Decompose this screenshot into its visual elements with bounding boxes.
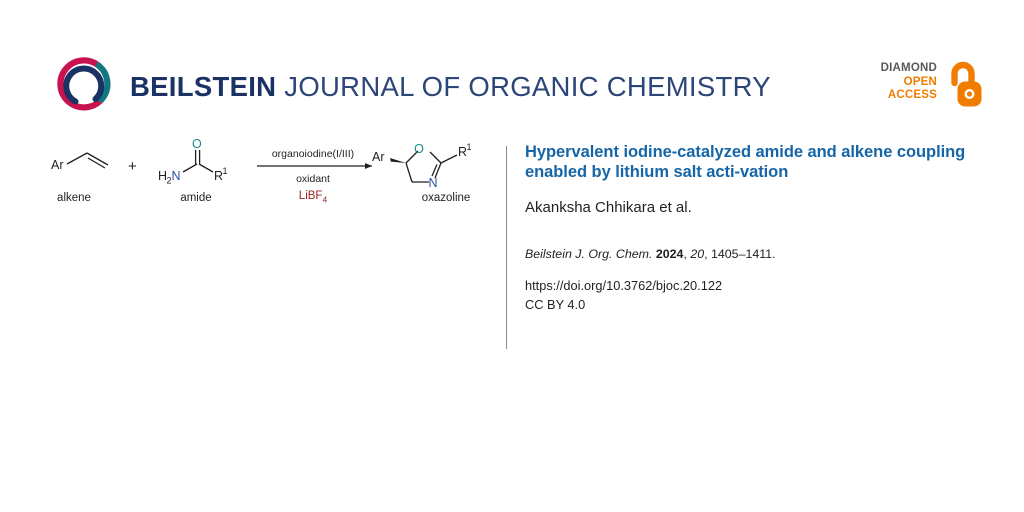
open-padlock-icon — [944, 60, 984, 110]
svg-text:N: N — [428, 176, 437, 190]
svg-text:Ar: Ar — [372, 150, 385, 164]
article-doi-link[interactable]: https://doi.org/10.3762/bjoc.20.122 — [525, 261, 977, 293]
citation-year: 2024 — [656, 247, 684, 261]
journal-title-rest: JOURNAL OF ORGANIC CHEMISTRY — [276, 71, 771, 102]
plus-sign: + — [128, 158, 137, 175]
condition-below-arrow-salt: LiBF4 — [253, 190, 373, 204]
article-license: CC BY 4.0 — [525, 293, 977, 312]
svg-text:1: 1 — [223, 166, 228, 176]
svg-text:O: O — [192, 137, 202, 151]
citation-pages: , 1405–1411. — [704, 247, 775, 261]
article-title-line-3: vation — [740, 163, 788, 181]
article-title[interactable]: Hypervalent iodine-catalyzed amide and a… — [525, 143, 977, 182]
salt-formula-base: LiBF — [299, 190, 323, 202]
open-access-badge: DIAMOND OPEN ACCESS — [865, 60, 985, 112]
oa-line-diamond: DIAMOND — [865, 62, 937, 76]
beilstein-spiral-logo-icon — [54, 56, 114, 114]
article-title-line-1: Hypervalent iodine-catalyzed amide and — [525, 143, 837, 161]
alkene-label-ar: Ar — [51, 158, 64, 172]
column-divider — [506, 146, 507, 349]
masthead: BEILSTEIN JOURNAL OF ORGANIC CHEMISTRY D… — [0, 0, 1024, 128]
article-citation: Beilstein J. Org. Chem. 2024, 20, 1405–1… — [525, 216, 977, 261]
article-authors: Akanksha Chhikara et al. — [525, 182, 977, 216]
caption-amide: amide — [156, 192, 236, 204]
journal-title-brand: BEILSTEIN — [130, 71, 276, 102]
oa-line-access: ACCESS — [865, 89, 937, 103]
condition-below-arrow-oxidant: oxidant — [253, 173, 373, 185]
oa-line-open: OPEN — [865, 76, 937, 90]
caption-alkene: alkene — [34, 192, 114, 204]
svg-text:1: 1 — [467, 142, 472, 152]
citation-volume: 20 — [690, 247, 704, 261]
condition-above-arrow: organoiodine(I/III) — [253, 148, 373, 160]
svg-text:N: N — [172, 169, 181, 183]
svg-text:O: O — [414, 142, 424, 156]
open-access-text: DIAMOND OPEN ACCESS — [865, 62, 937, 103]
article-info: Hypervalent iodine-catalyzed amide and a… — [525, 143, 977, 312]
citation-journal-name: Beilstein J. Org. Chem. — [525, 247, 652, 261]
salt-formula-subscript: 4 — [322, 194, 327, 204]
caption-oxazoline: oxazoline — [405, 192, 487, 204]
journal-title: BEILSTEIN JOURNAL OF ORGANIC CHEMISTRY — [130, 71, 771, 103]
